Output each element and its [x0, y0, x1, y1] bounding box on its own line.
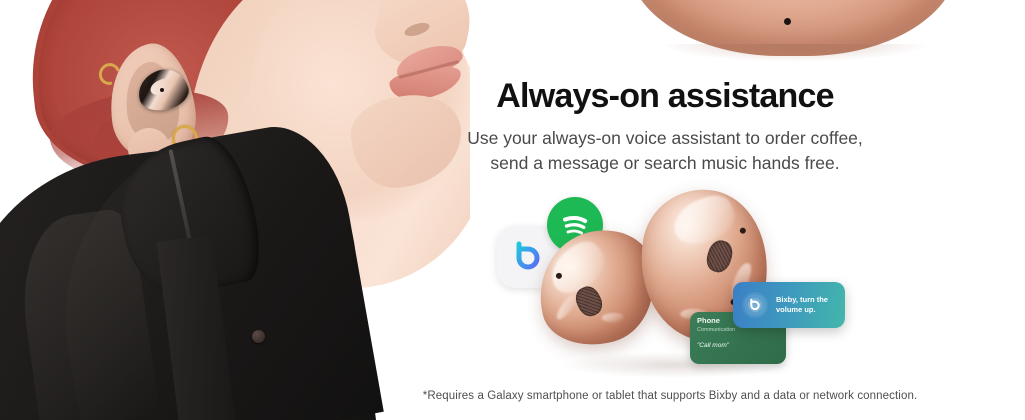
earbud-left-gloss-3 — [602, 313, 624, 322]
subheading: Use your always-on voice assistant to or… — [420, 126, 910, 176]
bixby-card-text: Bixby, turn the volume up. — [776, 295, 836, 315]
charging-case-shadow — [660, 44, 930, 62]
legal-footnote: *Requires a Galaxy smartphone or tablet … — [300, 390, 1025, 402]
worn-earbud-mic — [160, 88, 164, 92]
subheading-line-1: Use your always-on voice assistant to or… — [467, 128, 863, 148]
charging-case-led — [784, 18, 791, 25]
model-photo — [0, 0, 470, 420]
shirt-button — [252, 330, 265, 343]
subheading-line-2: send a message or search music hands fre… — [490, 153, 839, 173]
result-card-command: "Call mom" — [697, 342, 779, 349]
bixby-icon — [742, 292, 768, 318]
marketing-banner: Always-on assistance Use your always-on … — [0, 0, 1025, 420]
page-title: Always-on assistance — [420, 78, 910, 115]
bixby-assistant-card[interactable]: Bixby, turn the volume up. — [733, 282, 845, 328]
